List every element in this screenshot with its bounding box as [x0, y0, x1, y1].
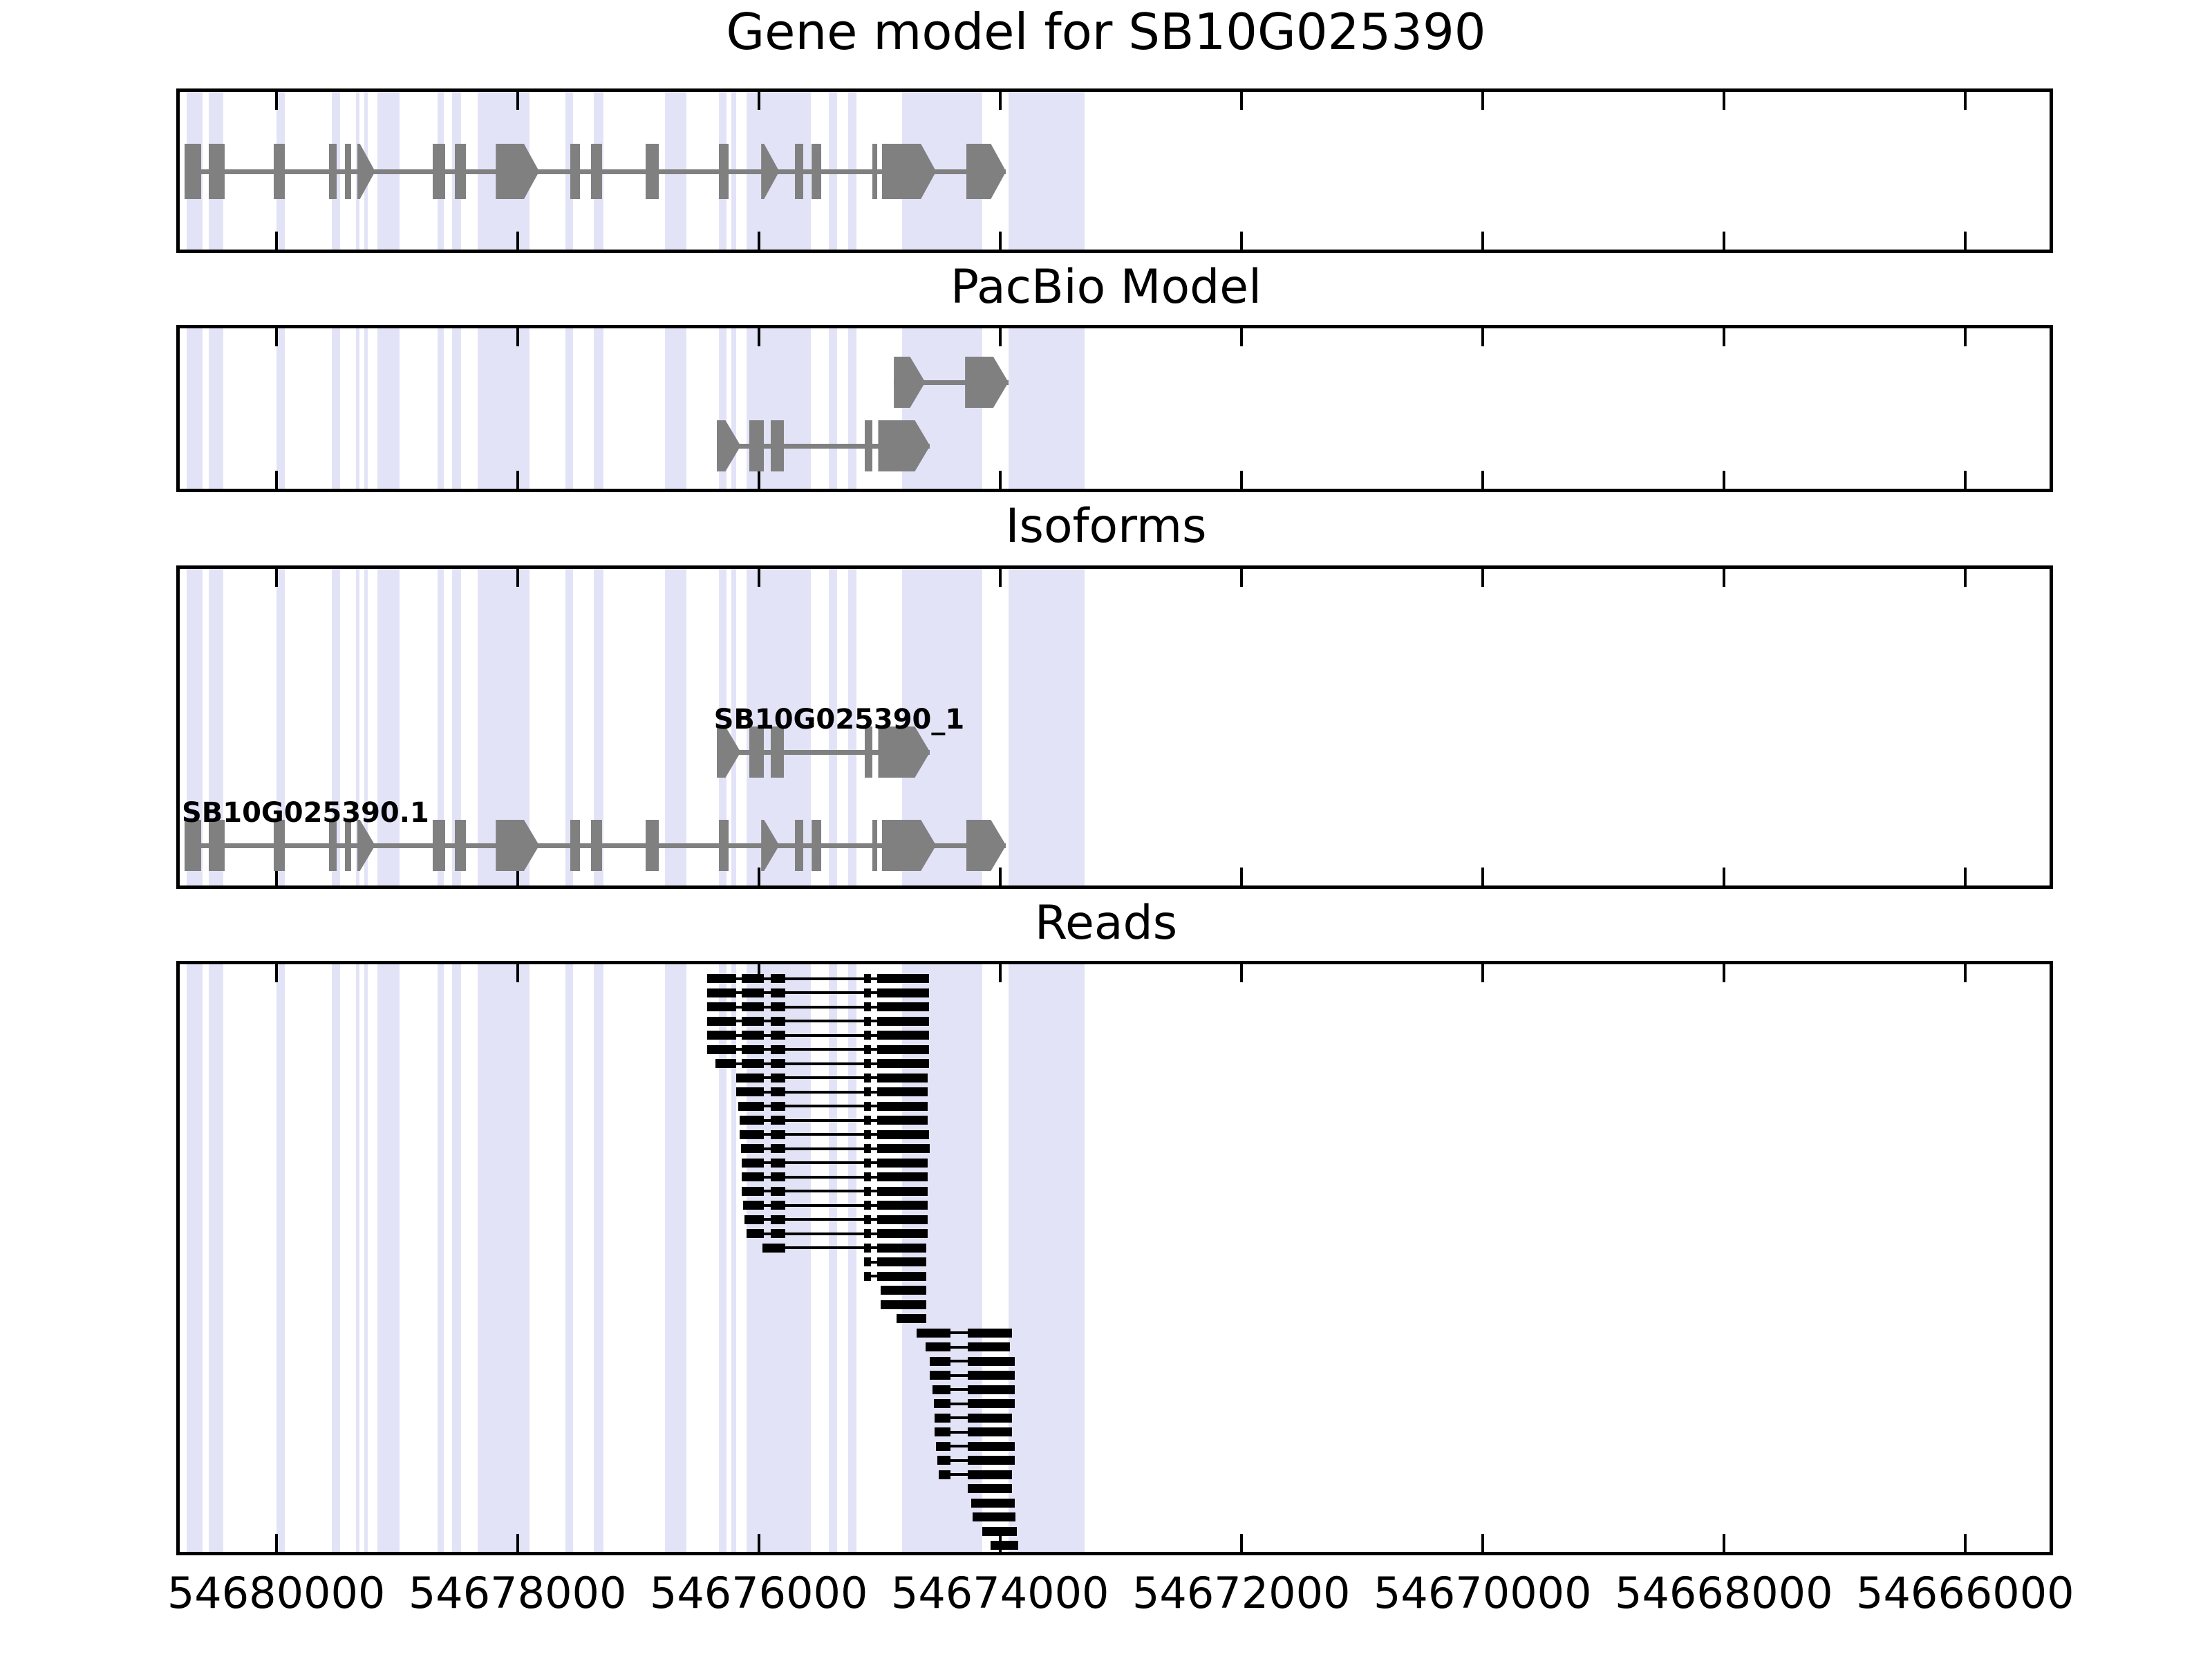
- axis-tick: [758, 92, 760, 110]
- exon-block: [646, 820, 659, 871]
- read-exon-block: [877, 1087, 928, 1096]
- highlight-band: [377, 964, 399, 1552]
- read-exon-block: [932, 1385, 950, 1394]
- highlight-band: [1009, 328, 1085, 489]
- axis-tick: [1240, 868, 1243, 885]
- exon-block: [455, 144, 466, 199]
- read-exon-block: [930, 1371, 950, 1380]
- axis-tick: [516, 92, 519, 110]
- read-exon-block: [742, 1002, 763, 1011]
- read-exon-block: [968, 1371, 1015, 1380]
- read-exon-block: [877, 1272, 927, 1281]
- axis-tick: [1481, 569, 1484, 587]
- read-exon-block: [762, 1244, 785, 1253]
- read-exon-block: [742, 988, 763, 997]
- highlight-band: [332, 328, 340, 489]
- axis-tick: [758, 569, 760, 587]
- read-exon-block: [877, 1244, 927, 1253]
- axis-tick: [275, 964, 278, 982]
- read-exon-block: [917, 1329, 950, 1338]
- read-exon-block: [936, 1442, 950, 1451]
- pacbio-model-axes: [176, 325, 2053, 492]
- highlight-band: [829, 964, 837, 1552]
- axis-tick: [516, 569, 519, 587]
- read-exon-block: [877, 1257, 927, 1266]
- highlight-band: [565, 328, 572, 489]
- axis-tick: [1240, 1534, 1243, 1552]
- exon-block: [749, 420, 764, 471]
- exon-block: [966, 144, 1006, 199]
- read-exon-block: [971, 1499, 1015, 1508]
- read-exon-block: [968, 1399, 1015, 1408]
- read-exon-block: [742, 1172, 763, 1181]
- read-exon-block: [707, 1017, 736, 1026]
- axis-tick: [275, 569, 278, 587]
- read-exon-block: [968, 1329, 1013, 1338]
- read-exon-block: [968, 1442, 1015, 1451]
- read-exon-block: [707, 1045, 736, 1054]
- exon-block: [455, 820, 466, 871]
- read-exon-block: [877, 1045, 929, 1054]
- axis-tick: [1964, 92, 1967, 110]
- read-exon-block: [864, 974, 871, 983]
- read-exon-block: [715, 1059, 736, 1068]
- read-exon-block: [877, 1130, 929, 1139]
- axis-tick: [1723, 328, 1725, 346]
- highlight-band: [187, 328, 203, 489]
- highlight-band: [594, 328, 603, 489]
- read-exon-block: [935, 1414, 950, 1423]
- exon-block: [795, 820, 803, 871]
- axis-tick: [1481, 964, 1484, 982]
- x-tick-label: 54678000: [379, 1568, 656, 1618]
- exon-block: [496, 144, 539, 199]
- read-exon-block: [877, 1102, 928, 1111]
- read-exon-block: [771, 1229, 785, 1238]
- highlight-band: [438, 328, 444, 489]
- axis-tick: [275, 232, 278, 250]
- axis-tick: [1240, 964, 1243, 982]
- read-exon-block: [742, 1031, 763, 1040]
- highlight-band: [209, 328, 223, 489]
- highlight-band: [829, 328, 837, 489]
- axis-tick: [758, 868, 760, 885]
- axis-tick: [1240, 92, 1243, 110]
- read-exon-block: [864, 1130, 871, 1139]
- read-exon-block: [771, 1201, 785, 1210]
- read-exon-block: [742, 974, 763, 983]
- read-exon-block: [771, 1172, 785, 1181]
- read-exon-block: [877, 1074, 928, 1082]
- read-exon-block: [877, 1172, 928, 1181]
- axis-tick: [1723, 1534, 1725, 1552]
- axis-tick: [758, 471, 760, 489]
- read-exon-block: [864, 1187, 871, 1196]
- axis-tick: [1240, 471, 1243, 489]
- read-exon-block: [864, 1244, 871, 1253]
- exon-block: [795, 144, 803, 199]
- exon-block: [812, 144, 821, 199]
- axis-tick: [758, 328, 760, 346]
- read-exon-block: [864, 1172, 871, 1181]
- highlight-band: [276, 964, 285, 1552]
- read-exon-block: [771, 1144, 785, 1153]
- read-exon-block: [881, 1300, 926, 1309]
- read-exon-block: [897, 1314, 927, 1323]
- axis-tick: [999, 868, 1002, 885]
- read-exon-block: [707, 988, 736, 997]
- exon-block: [771, 420, 784, 471]
- read-exon-block: [771, 1087, 785, 1096]
- highlight-band: [364, 328, 368, 489]
- highlight-band: [276, 328, 285, 489]
- exon-block: [433, 820, 444, 871]
- axis-tick: [1481, 92, 1484, 110]
- highlight-band: [187, 964, 203, 1552]
- read-exon-block: [744, 1215, 764, 1224]
- read-exon-block: [877, 974, 929, 983]
- read-exon-block: [707, 1002, 736, 1011]
- read-exon-block: [771, 1074, 785, 1082]
- axis-tick: [1964, 868, 1967, 885]
- axis-tick: [275, 471, 278, 489]
- read-exon-block: [864, 1017, 871, 1026]
- x-tick-label: 54676000: [621, 1568, 897, 1618]
- axis-tick: [999, 964, 1002, 982]
- read-exon-block: [934, 1399, 950, 1408]
- highlight-band: [377, 328, 399, 489]
- read-exon-block: [747, 1229, 763, 1238]
- isoform-label-upper: SB10G025390_1: [714, 704, 965, 735]
- axis-tick: [1723, 471, 1725, 489]
- read-exon-block: [968, 1427, 1013, 1436]
- read-exon-block: [707, 1031, 736, 1040]
- read-exon-block: [864, 1045, 871, 1054]
- genome-browser-figure: Gene model for SB10G025390 PacBio Model …: [0, 0, 2212, 1659]
- exon-block: [966, 820, 1006, 871]
- axis-tick: [1723, 964, 1725, 982]
- highlight-band: [665, 964, 686, 1552]
- read-exon-block: [771, 1031, 785, 1040]
- read-exon-block: [864, 1059, 871, 1068]
- exon-block: [719, 820, 729, 871]
- axis-tick: [1240, 569, 1243, 587]
- highlight-band: [1009, 964, 1085, 1552]
- highlight-band: [364, 964, 368, 1552]
- x-tick-label: 54674000: [862, 1568, 1138, 1618]
- read-exon-block: [864, 1229, 871, 1238]
- read-exon-block: [771, 974, 785, 983]
- axis-tick: [1964, 1534, 1967, 1552]
- read-exon-block: [864, 1201, 871, 1210]
- exon-block: [872, 820, 877, 871]
- read-exon-block: [877, 1159, 928, 1168]
- highlight-band: [848, 328, 856, 489]
- read-exon-block: [741, 1144, 764, 1153]
- exon-block: [719, 144, 729, 199]
- axis-tick: [1240, 232, 1243, 250]
- read-exon-block: [771, 1116, 785, 1125]
- read-exon-block: [864, 1002, 871, 1011]
- highlight-band: [848, 964, 856, 1552]
- read-exon-block: [864, 1031, 871, 1040]
- read-exon-block: [877, 1017, 929, 1026]
- read-exon-block: [968, 1414, 1013, 1423]
- x-tick-label: 54670000: [1344, 1568, 1621, 1618]
- read-exon-block: [771, 1130, 785, 1139]
- highlight-band: [452, 964, 460, 1552]
- read-exon-block: [736, 1087, 764, 1096]
- axis-tick: [516, 232, 519, 250]
- exon-block: [717, 420, 741, 471]
- read-exon-block: [877, 1201, 928, 1210]
- exon-block: [872, 144, 877, 199]
- axis-tick: [516, 964, 519, 982]
- read-exon-block: [973, 1512, 1016, 1521]
- read-exon-block: [864, 988, 871, 997]
- read-exon-block: [877, 1215, 928, 1224]
- exon-block: [329, 144, 336, 199]
- read-exon-block: [968, 1357, 1015, 1366]
- axis-tick: [516, 328, 519, 346]
- read-exon-block: [968, 1456, 1015, 1465]
- highlight-band: [731, 328, 736, 489]
- exon-block: [433, 144, 444, 199]
- highlight-band: [478, 964, 529, 1552]
- axis-tick: [1481, 1534, 1484, 1552]
- read-exon-block: [864, 1272, 871, 1281]
- read-exon-block: [968, 1484, 1013, 1493]
- read-exon-block: [939, 1470, 950, 1479]
- exon-block: [345, 144, 351, 199]
- read-exon-block: [864, 1159, 871, 1168]
- axis-tick: [999, 569, 1002, 587]
- highlight-band: [452, 328, 460, 489]
- read-exon-block: [740, 1130, 764, 1139]
- read-exon-block: [864, 1102, 871, 1111]
- read-exon-block: [771, 988, 785, 997]
- axis-tick: [1964, 328, 1967, 346]
- read-exon-block: [707, 974, 736, 983]
- read-exon-block: [736, 1074, 764, 1082]
- axis-tick: [1481, 232, 1484, 250]
- axis-tick: [1723, 92, 1725, 110]
- read-exon-block: [877, 1116, 928, 1125]
- page-title: Gene model for SB10G025390: [0, 7, 2212, 57]
- read-exon-block: [771, 1002, 785, 1011]
- axis-tick: [1723, 569, 1725, 587]
- read-exon-block: [881, 1286, 926, 1295]
- highlight-band: [332, 964, 340, 1552]
- axis-tick: [999, 328, 1002, 346]
- read-exon-block: [877, 1059, 929, 1068]
- pacbio-model-title: PacBio Model: [0, 264, 2212, 311]
- read-exon-block: [742, 1059, 763, 1068]
- exon-block: [646, 144, 659, 199]
- read-exon-block: [937, 1456, 950, 1465]
- isoform-label-lower: SB10G025390.1: [182, 797, 429, 829]
- exon-block: [965, 357, 1009, 408]
- highlight-band: [565, 964, 572, 1552]
- exon-block: [209, 144, 225, 199]
- read-exon-block: [771, 1059, 785, 1068]
- axis-tick: [1481, 328, 1484, 346]
- read-exon-block: [877, 1187, 928, 1196]
- x-tick-label: 54680000: [138, 1568, 415, 1618]
- axis-tick: [758, 1534, 760, 1552]
- read-exon-block: [982, 1527, 1018, 1536]
- read-exon-block: [864, 1116, 871, 1125]
- read-exon-block: [935, 1427, 950, 1436]
- highlight-band: [478, 328, 529, 489]
- highlight-band: [356, 328, 359, 489]
- highlight-band: [356, 964, 359, 1552]
- exon-block: [591, 820, 602, 871]
- isoforms-title: Isoforms: [0, 503, 2212, 550]
- highlight-band: [594, 964, 603, 1552]
- axis-tick: [516, 471, 519, 489]
- read-exon-block: [771, 1017, 785, 1026]
- read-exon-block: [968, 1342, 1010, 1351]
- axis-tick: [999, 471, 1002, 489]
- exon-block: [570, 820, 580, 871]
- isoforms-axes: SB10G025390_1SB10G025390.1: [176, 565, 2053, 889]
- reads-axes: [176, 961, 2053, 1555]
- highlight-band: [665, 328, 686, 489]
- reads-title: Reads: [0, 900, 2212, 947]
- axis-tick: [999, 92, 1002, 110]
- axis-tick: [1481, 471, 1484, 489]
- highlight-band: [1009, 92, 1085, 250]
- x-tick-label: 54672000: [1103, 1568, 1380, 1618]
- x-tick-label: 54668000: [1586, 1568, 1862, 1618]
- axis-tick: [1964, 569, 1967, 587]
- read-exon-block: [742, 1187, 763, 1196]
- axis-tick: [275, 1534, 278, 1552]
- highlight-band: [377, 569, 399, 885]
- read-exon-block: [771, 1187, 785, 1196]
- exon-block: [496, 820, 539, 871]
- read-exon-block: [742, 1159, 763, 1168]
- exon-block: [865, 420, 872, 471]
- read-exon-block: [742, 1045, 763, 1054]
- read-exon-block: [877, 1144, 930, 1153]
- read-exon-block: [968, 1470, 1013, 1479]
- read-exon-block: [771, 1159, 785, 1168]
- read-exon-block: [743, 1201, 764, 1210]
- read-exon-block: [771, 1215, 785, 1224]
- read-exon-block: [877, 988, 929, 997]
- read-exon-block: [864, 1087, 871, 1096]
- axis-tick: [1723, 868, 1725, 885]
- highlight-band: [209, 964, 223, 1552]
- read-exon-block: [877, 1229, 928, 1238]
- exon-block: [570, 144, 580, 199]
- highlight-band: [665, 569, 686, 885]
- x-tick-label: 54666000: [1827, 1568, 2103, 1618]
- read-exon-block: [864, 1074, 871, 1082]
- exon-block: [812, 820, 821, 871]
- exon-block: [185, 144, 201, 199]
- axis-tick: [1964, 232, 1967, 250]
- read-exon-block: [742, 1017, 763, 1026]
- read-exon-block: [864, 1215, 871, 1224]
- read-exon-block: [930, 1357, 950, 1366]
- axis-tick: [999, 232, 1002, 250]
- gene-model-axes: [176, 88, 2053, 253]
- read-exon-block: [877, 1031, 929, 1040]
- exon-block: [274, 144, 285, 199]
- read-exon-block: [771, 1045, 785, 1054]
- axis-tick: [758, 232, 760, 250]
- read-exon-block: [864, 1257, 871, 1266]
- read-exon-block: [926, 1342, 951, 1351]
- highlight-band: [1009, 569, 1085, 885]
- axis-tick: [516, 1534, 519, 1552]
- read-exon-block: [740, 1116, 764, 1125]
- axis-tick: [1723, 232, 1725, 250]
- read-exon-block: [968, 1385, 1015, 1394]
- axis-tick: [1481, 868, 1484, 885]
- highlight-band: [438, 964, 444, 1552]
- exon-block: [591, 144, 602, 199]
- read-exon-block: [771, 1102, 785, 1111]
- axis-tick: [1964, 964, 1967, 982]
- axis-tick: [275, 92, 278, 110]
- axis-tick: [275, 328, 278, 346]
- read-exon-block: [991, 1541, 1018, 1550]
- axis-tick: [1240, 328, 1243, 346]
- axis-tick: [1964, 471, 1967, 489]
- read-exon-block: [738, 1102, 764, 1111]
- read-exon-block: [877, 1002, 929, 1011]
- read-exon-block: [864, 1144, 871, 1153]
